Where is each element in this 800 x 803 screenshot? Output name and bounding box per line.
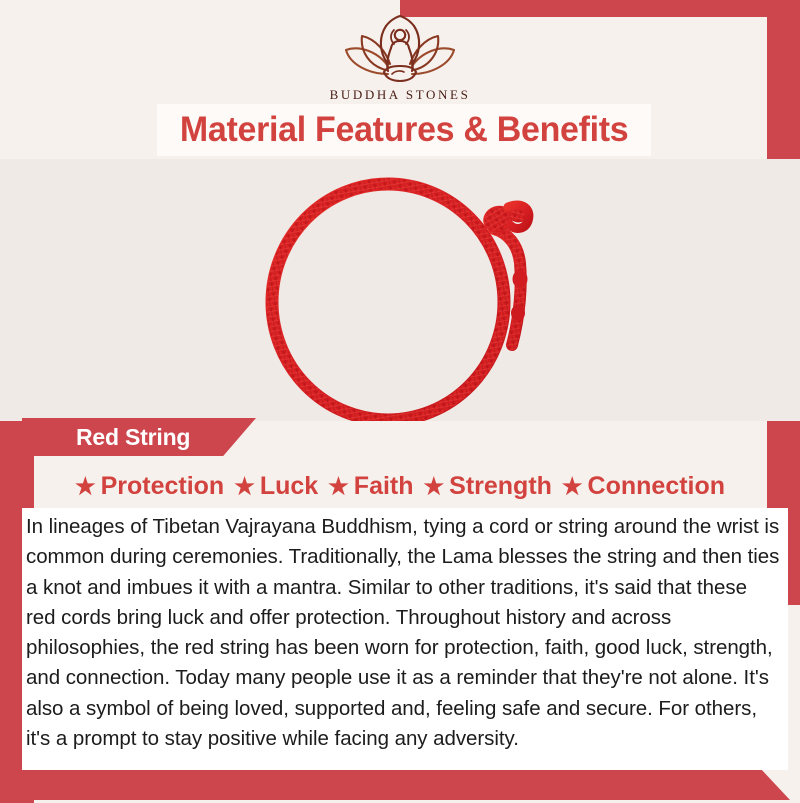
lotus-meditation-figure-icon bbox=[342, 14, 458, 86]
bottom-red-bar bbox=[0, 768, 800, 800]
benefits-row: ★ Protection ★ Luck ★ Faith ★ Strength ★… bbox=[0, 465, 800, 507]
benefit-label: Faith bbox=[354, 472, 414, 501]
product-image-area bbox=[0, 159, 800, 421]
red-string-bracelet-image bbox=[236, 167, 566, 421]
benefit-faith: ★ Faith bbox=[323, 472, 418, 501]
section-ribbon-label: Red String bbox=[76, 424, 190, 451]
benefit-connection: ★ Connection bbox=[557, 472, 730, 501]
brand-header: BUDDHA STONES bbox=[0, 0, 800, 100]
benefit-label: Connection bbox=[588, 472, 726, 501]
benefit-label: Strength bbox=[449, 472, 552, 501]
star-icon: ★ bbox=[234, 475, 255, 498]
benefit-luck: ★ Luck bbox=[229, 472, 323, 501]
benefit-label: Luck bbox=[260, 472, 318, 501]
page-title: Material Features & Benefits bbox=[180, 110, 628, 150]
section-ribbon: Red String bbox=[22, 418, 256, 456]
star-icon: ★ bbox=[424, 475, 445, 498]
star-icon: ★ bbox=[328, 475, 349, 498]
description-panel: In lineages of Tibetan Vajrayana Buddhis… bbox=[22, 508, 788, 770]
star-icon: ★ bbox=[75, 475, 96, 498]
description-text: In lineages of Tibetan Vajrayana Buddhis… bbox=[22, 508, 788, 754]
title-panel: Material Features & Benefits bbox=[157, 104, 651, 156]
benefit-protection: ★ Protection bbox=[70, 472, 229, 501]
brand-name: BUDDHA STONES bbox=[300, 87, 500, 103]
brand-logo: BUDDHA STONES bbox=[300, 14, 500, 103]
benefit-strength: ★ Strength bbox=[419, 472, 557, 501]
benefit-label: Protection bbox=[101, 472, 225, 501]
infographic-page: BUDDHA STONES Material Features & Benefi… bbox=[0, 0, 800, 800]
star-icon: ★ bbox=[562, 475, 583, 498]
